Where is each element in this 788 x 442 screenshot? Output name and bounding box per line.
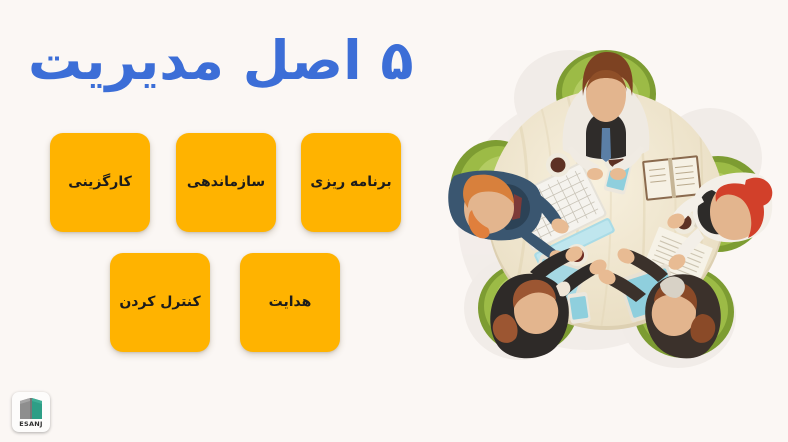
principle-box-planning[interactable]: برنامه ریزی <box>301 133 401 232</box>
principle-label: کنترل کردن <box>114 294 205 312</box>
page-title: ۵ اصل مدیریت <box>28 22 428 100</box>
principle-box-organizing[interactable]: سازماندهی <box>176 133 276 232</box>
logo-text: ESANJ <box>12 420 50 428</box>
principle-label: برنامه ریزی <box>305 174 396 192</box>
esanj-watermark-logo: ESANJ <box>12 392 50 432</box>
infographic-canvas: ۵ اصل مدیریت برنامه ریزی سازماندهی کارگز… <box>0 0 788 442</box>
principle-box-leading[interactable]: هدایت <box>240 253 340 352</box>
business-meeting-illustration <box>410 8 788 408</box>
smartphone-bottom <box>567 292 591 324</box>
principle-label: هدایت <box>264 294 317 312</box>
principle-label: کارگزینی <box>63 174 136 192</box>
open-notebook <box>642 155 702 201</box>
coffee-cup-left <box>546 153 570 177</box>
principle-label: سازماندهی <box>182 174 270 192</box>
principle-box-controlling[interactable]: کنترل کردن <box>110 253 210 352</box>
principle-box-staffing[interactable]: کارگزینی <box>50 133 150 232</box>
